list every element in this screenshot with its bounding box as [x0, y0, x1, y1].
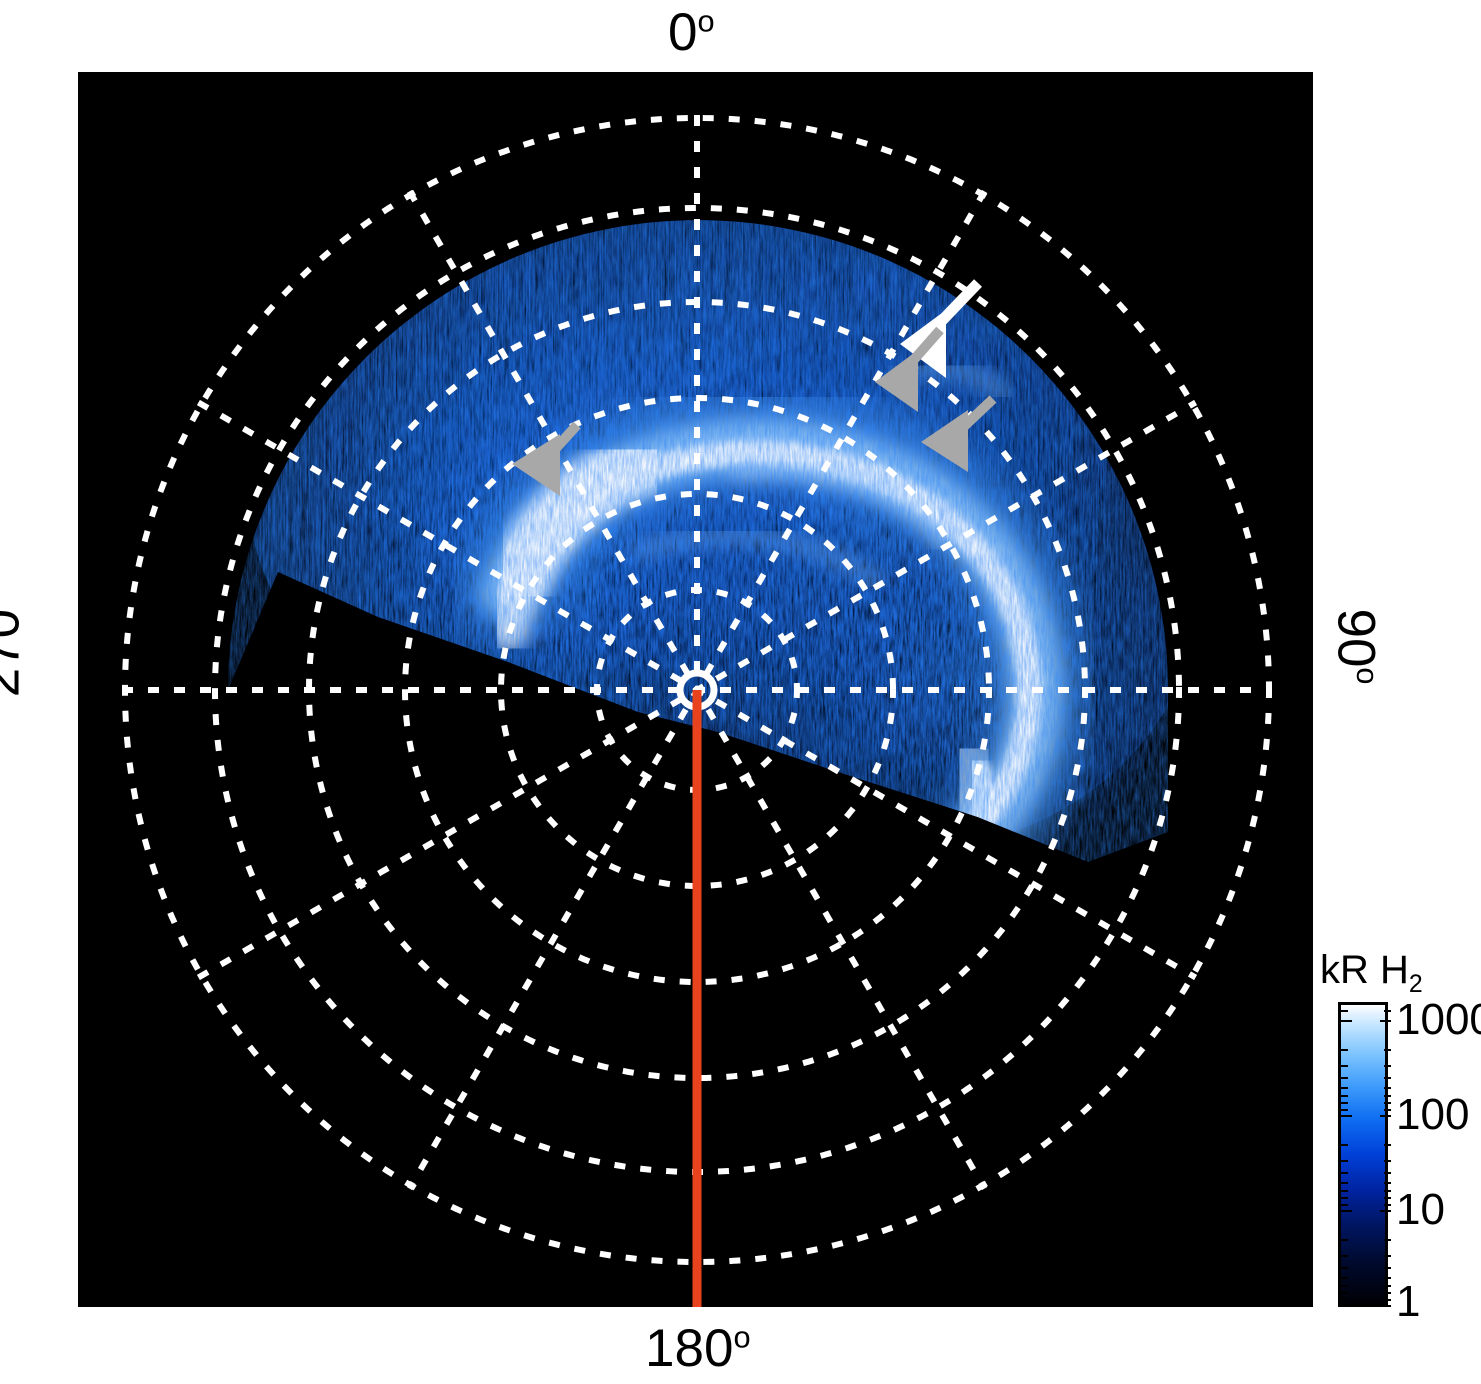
polar-projection-canvas: [78, 72, 1313, 1307]
colorbar-tick-marks: [1341, 1005, 1391, 1310]
axis-label-90-text: 90: [1327, 608, 1386, 667]
degree-symbol-icon: o: [0, 592, 7, 609]
colorbar-gradient: [1338, 1002, 1388, 1307]
axis-label-180-text: 180: [645, 1319, 733, 1378]
axis-label-180: 180o: [645, 1322, 751, 1375]
degree-symbol-icon: o: [697, 3, 714, 38]
colorbar-tick-label-100: 100: [1396, 1093, 1469, 1137]
axis-label-0: 0o: [668, 6, 715, 59]
colorbar-tick-label-10: 10: [1396, 1188, 1445, 1232]
colorbar-title-main: kR H: [1320, 948, 1409, 992]
colorbar-title-subscript: 2: [1409, 971, 1423, 998]
degree-symbol-icon: o: [1350, 667, 1385, 684]
figure-root: 0o 180o 270o 90o kR H2: [0, 0, 1481, 1384]
colorbar: kR H2: [1318, 950, 1481, 1320]
axis-label-270: 270o: [0, 592, 27, 698]
colorbar-title: kR H2: [1320, 950, 1423, 990]
axis-label-0-text: 0: [668, 3, 697, 62]
degree-symbol-icon: o: [733, 1319, 750, 1354]
colorbar-tick-label-1: 1: [1396, 1280, 1420, 1324]
polar-plot-area: [78, 72, 1313, 1307]
colorbar-tick-label-1000: 1000: [1396, 998, 1481, 1042]
axis-label-270-text: 270: [0, 609, 30, 697]
axis-label-90: 90o: [1330, 608, 1383, 684]
